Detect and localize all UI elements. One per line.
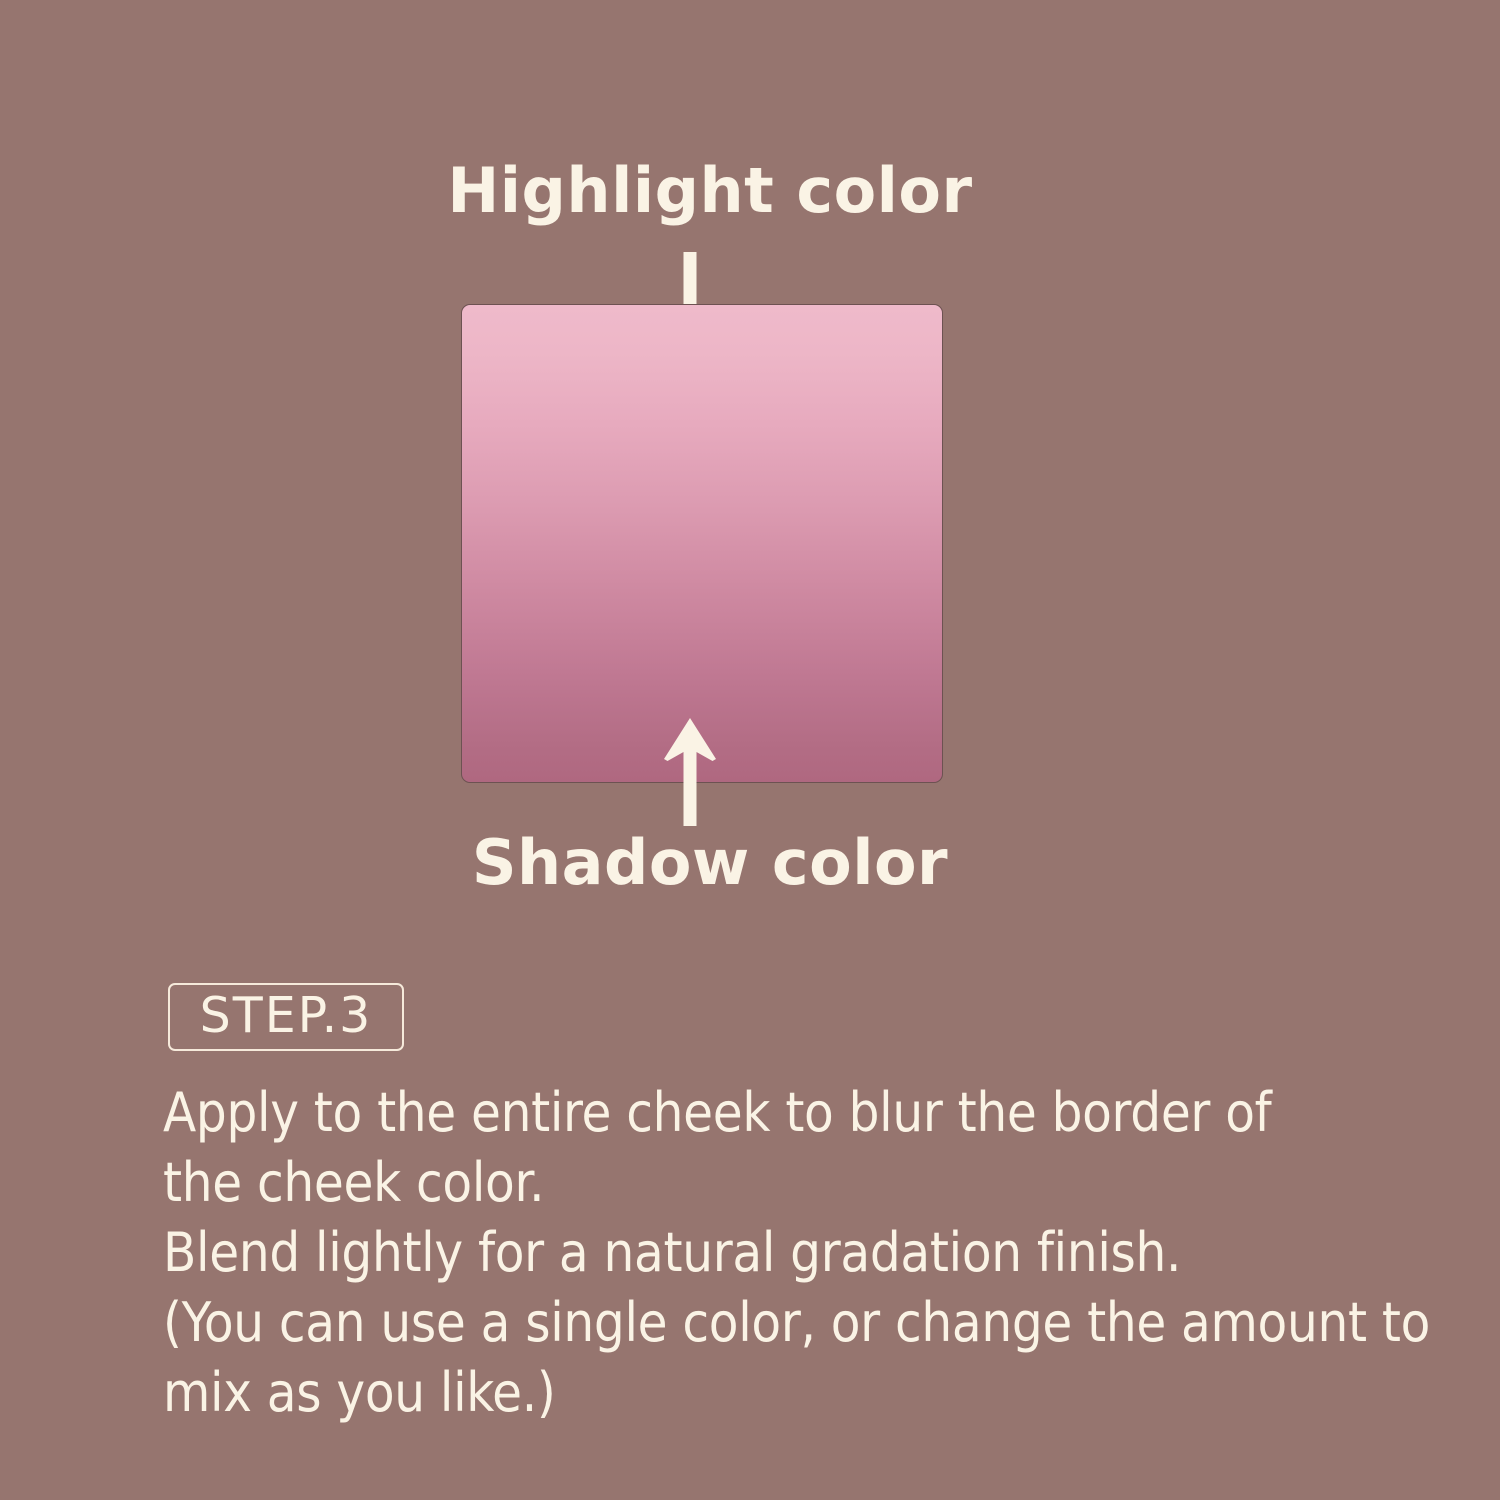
description-line: the cheek color. xyxy=(163,1148,1413,1218)
step-description: Apply to the entire cheek to blur the bo… xyxy=(163,1078,1413,1428)
description-line: Apply to the entire cheek to blur the bo… xyxy=(163,1078,1413,1148)
step-badge: STEP.3 xyxy=(168,983,404,1051)
description-line: Blend lightly for a natural gradation fi… xyxy=(163,1218,1413,1288)
arrow-up-icon xyxy=(654,716,726,826)
highlight-color-label: Highlight color xyxy=(0,160,1420,222)
gradient-swatch xyxy=(461,304,943,783)
description-line: (You can use a single color, or change t… xyxy=(163,1288,1413,1358)
description-line: mix as you like.) xyxy=(163,1358,1413,1428)
page-canvas: Highlight color Shadow color STEP.3 Appl… xyxy=(0,0,1500,1500)
shadow-color-label: Shadow color xyxy=(0,832,1420,894)
step-badge-label: STEP.3 xyxy=(200,991,373,1040)
